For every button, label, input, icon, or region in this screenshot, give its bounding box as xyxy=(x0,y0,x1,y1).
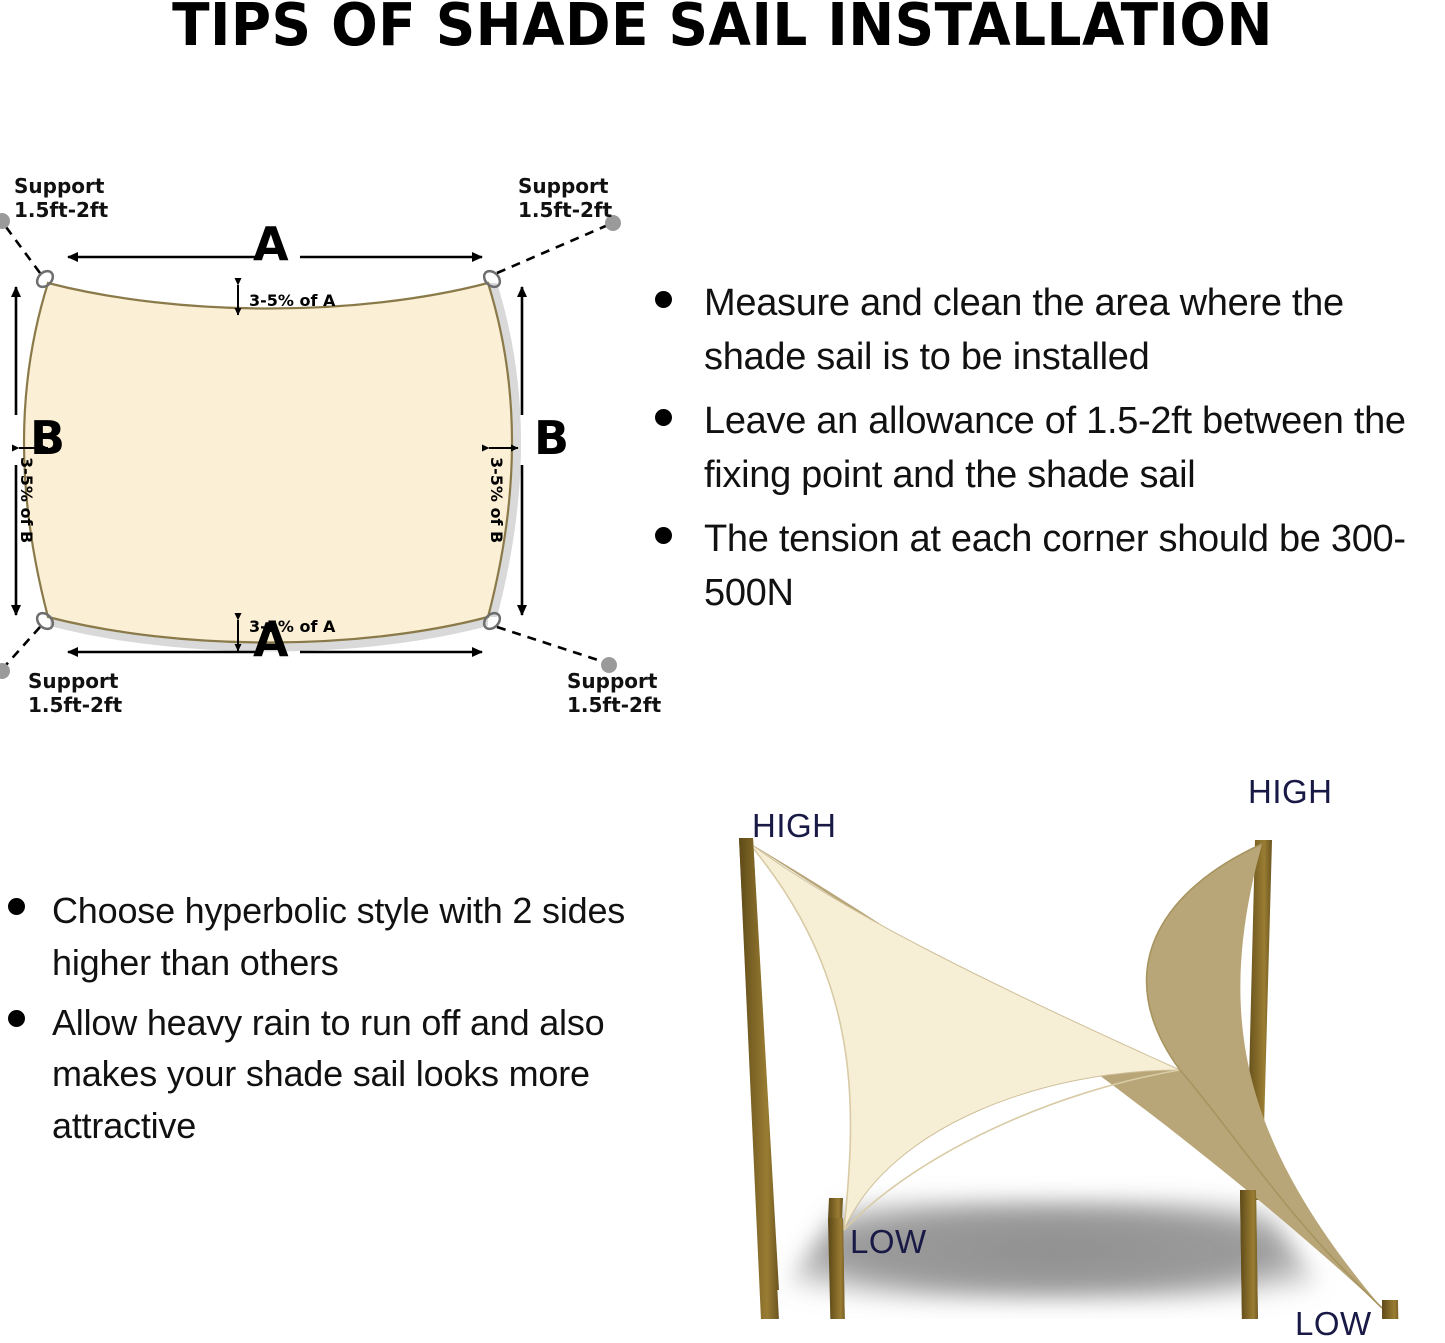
shade-sail-shape xyxy=(24,283,512,643)
support-label-bottom-left: Support 1.5ft-2ft xyxy=(28,670,122,717)
support-label-line1: Support xyxy=(28,669,118,693)
support-label-line1: Support xyxy=(14,174,104,198)
list-item-label: Measure and clean the area where the sha… xyxy=(704,277,1445,385)
post-high-left-front xyxy=(739,838,779,1319)
label-low-left: LOW xyxy=(850,1223,927,1261)
list-item: Leave an allowance of 1.5-2ft between th… xyxy=(655,395,1445,503)
curve-label-top: 3-5% of A xyxy=(249,291,335,310)
hyperbolic-sail-diagram: HIGH HIGH LOW LOW xyxy=(640,780,1445,1319)
support-label-line1: Support xyxy=(518,174,608,198)
bullet-dot-icon xyxy=(8,898,25,915)
dimension-letter-A-top: A xyxy=(253,221,289,267)
support-dot-bottom-left xyxy=(0,663,10,679)
bullet-dot-icon xyxy=(655,527,672,544)
list-item-label: Allow heavy rain to run off and also mak… xyxy=(52,997,648,1152)
rectangular-sail-diagram: A A B B 3-5% of A 3-5% of A 3-5% of B 3-… xyxy=(0,165,660,725)
tips-list-right: Measure and clean the area where the sha… xyxy=(655,277,1445,631)
label-high-right: HIGH xyxy=(1248,773,1333,811)
support-label-top-right: Support 1.5ft-2ft xyxy=(518,175,612,222)
list-item-label: Choose hyperbolic style with 2 sides hig… xyxy=(52,885,648,989)
list-item-label: Leave an allowance of 1.5-2ft between th… xyxy=(704,395,1445,503)
list-item: Allow heavy rain to run off and also mak… xyxy=(8,997,648,1152)
post-low-right-front xyxy=(1382,1304,1400,1319)
bullet-dot-icon xyxy=(8,1010,25,1027)
dimension-letter-B-left: B xyxy=(30,415,65,461)
page-title: TIPS OF SHADE SAIL INSTALLATION xyxy=(51,0,1395,56)
support-dot-top-left xyxy=(0,213,10,229)
support-line-top-right xyxy=(497,225,608,273)
support-label-line2: 1.5ft-2ft xyxy=(28,693,122,717)
list-item: Measure and clean the area where the sha… xyxy=(655,277,1445,385)
support-label-line2: 1.5ft-2ft xyxy=(14,198,108,222)
curve-label-left: 3-5% of B xyxy=(17,457,36,543)
support-line-top-left xyxy=(6,227,40,273)
support-label-line1: Support xyxy=(567,669,657,693)
infographic-page: TIPS OF SHADE SAIL INSTALLATION xyxy=(0,0,1445,1319)
label-low-right: LOW xyxy=(1295,1305,1372,1343)
dimension-letter-B-right: B xyxy=(534,415,569,461)
support-line-bottom-right xyxy=(497,627,604,662)
support-line-bottom-left xyxy=(6,627,40,665)
support-label-line2: 1.5ft-2ft xyxy=(567,693,661,717)
bullet-dot-icon xyxy=(655,291,672,308)
list-item-label: The tension at each corner should be 300… xyxy=(704,513,1445,621)
post-low-center-front xyxy=(1240,1190,1259,1319)
support-label-bottom-right: Support 1.5ft-2ft xyxy=(567,670,661,717)
list-item: Choose hyperbolic style with 2 sides hig… xyxy=(8,885,648,989)
support-label-top-left: Support 1.5ft-2ft xyxy=(14,175,108,222)
support-label-line2: 1.5ft-2ft xyxy=(518,198,612,222)
curve-label-right: 3-5% of B xyxy=(487,457,506,543)
tips-list-left: Choose hyperbolic style with 2 sides hig… xyxy=(8,885,648,1160)
bullet-dot-icon xyxy=(655,409,672,426)
curve-label-bottom: 3-5% of A xyxy=(249,617,335,636)
label-high-left: HIGH xyxy=(752,807,837,845)
list-item: The tension at each corner should be 300… xyxy=(655,513,1445,621)
sail-panel-cream xyxy=(748,842,1180,1230)
